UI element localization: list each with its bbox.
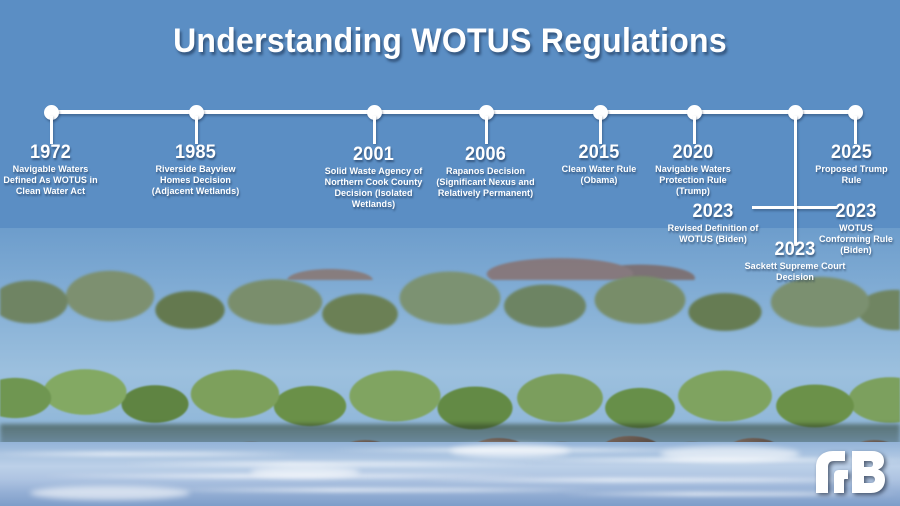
timeline-entry-year: 2006 <box>427 145 544 164</box>
timeline-entry-description: Navigable Waters Protection Rule (Trump) <box>644 164 743 197</box>
timeline-entry-year: 2001 <box>318 145 429 164</box>
timeline-entry-description: Solid Waste Agency of Northern Cook Coun… <box>318 166 429 210</box>
farm-bureau-logo-icon <box>814 449 886 493</box>
timeline-entry-year: 1972 <box>3 143 99 162</box>
timeline-entry-description: Rapanos Decision (Significant Nexus and … <box>427 166 544 199</box>
timeline-entry-2015[interactable]: 2015 Clean Water Rule (Obama) <box>545 143 653 186</box>
timeline-entry-description: WOTUS Conforming Rule (Biden) <box>814 223 898 256</box>
timeline-entry-year: 2023 <box>661 202 766 221</box>
timeline-entry-year: 2015 <box>548 143 651 162</box>
water-foam <box>30 486 190 500</box>
page-title: Understanding WOTUS Regulations <box>27 22 873 61</box>
timeline-entry-description: Proposed Trump Rule <box>805 164 897 186</box>
timeline-entry-year: 2020 <box>644 143 743 162</box>
timeline-entry-description: Sackett Supreme Court Decision <box>743 261 848 283</box>
timeline-stem-2020 <box>693 116 696 144</box>
timeline-entry-2006[interactable]: 2006 Rapanos Decision (Significant Nexus… <box>424 145 547 199</box>
water-foam <box>250 466 360 478</box>
timeline-entry-2023-revised-definition[interactable]: 2023 Revised Definition of WOTUS (Biden) <box>658 202 768 245</box>
timeline-entry-2001[interactable]: 2001 Solid Waste Agency of Northern Cook… <box>315 145 432 210</box>
timeline-entry-year: 2025 <box>805 143 897 162</box>
timeline-entry-description: Riverside Bayview Homes Decision (Adjace… <box>146 164 246 197</box>
timeline-stem-2006 <box>485 116 488 144</box>
timeline-stem-2025 <box>854 116 857 144</box>
timeline-entry-2025[interactable]: 2025 Proposed Trump Rule <box>803 143 900 186</box>
timeline-entry-description: Navigable Waters Defined As WOTUS in Cle… <box>3 164 99 197</box>
timeline-stem-1972 <box>50 116 53 144</box>
timeline-stem-2001 <box>373 116 376 144</box>
water-foam <box>450 444 570 458</box>
timeline-stem-1985 <box>195 116 198 144</box>
timeline-entry-2020[interactable]: 2020 Navigable Waters Protection Rule (T… <box>641 143 745 197</box>
timeline-entry-1985[interactable]: 1985 Riverside Bayview Homes Decision (A… <box>143 143 248 197</box>
timeline-entry-2023-conforming-rule[interactable]: 2023 WOTUS Conforming Rule (Biden) <box>812 202 900 256</box>
water-foam <box>660 446 800 462</box>
water-streak <box>160 488 600 492</box>
water-streak <box>0 452 300 456</box>
timeline-entry-year: 1985 <box>146 143 246 162</box>
infographic-canvas: Understanding WOTUS Regulations 1972 Nav… <box>0 0 900 506</box>
timeline-stem-2015 <box>599 116 602 144</box>
timeline-axis <box>51 110 855 114</box>
water-streak <box>120 462 540 466</box>
timeline-entry-description: Clean Water Rule (Obama) <box>548 164 651 186</box>
timeline-stem-2023-branch <box>794 116 797 208</box>
timeline-entry-1972[interactable]: 1972 Navigable Waters Defined As WOTUS i… <box>0 143 101 197</box>
timeline-entry-year: 2023 <box>814 202 898 221</box>
river-water <box>0 442 900 506</box>
